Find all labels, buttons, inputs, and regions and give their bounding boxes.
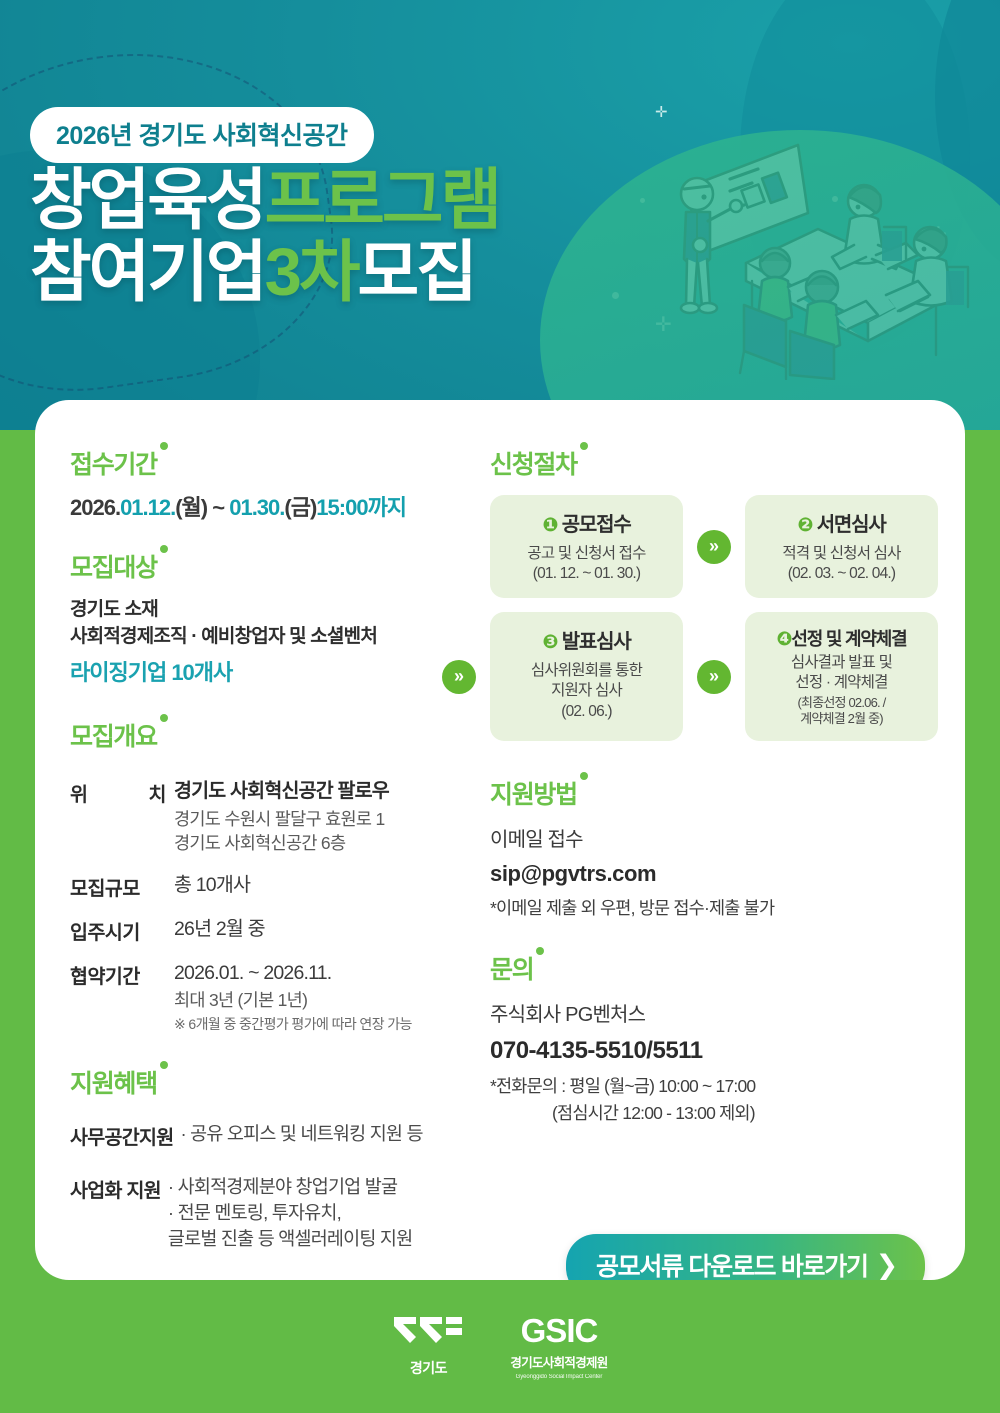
gyeonggi-mark-icon [392,1315,464,1351]
process-flow: ❶ 공모접수 공고 및 신청서 접수 (01. 12. ~ 01. 30.) »… [490,495,938,741]
process-step-4-desc-small: (최종선정 02.06. / 계약체결 2월 중) [753,695,930,728]
section-heading-application-period: 접수기간 [70,445,157,481]
section-heading-benefits: 지원혜택 [70,1064,157,1100]
overview-row-scale: 모집규모 총 10개사 [70,872,490,901]
overview-key-location-b: 치 [149,778,166,855]
title-line1-accent: 프로그램 [265,163,500,238]
apply-method: 이메일 접수 [490,826,945,854]
process-step-1-desc: 공고 및 신청서 접수 (01. 12. ~ 01. 30.) [498,544,675,584]
meeting-presentation-illustration [640,135,980,380]
location-address-1: 경기도 수원시 팔달구 효원로 1 [174,807,389,831]
hero-banner: ✛ ✛ ✛ 2026년 경기도 사회혁신공간 창업육성프로그램 참여기업3차모집 [0,0,1000,430]
location-name: 경기도 사회혁신공간 팔로우 [174,778,389,805]
overview-key-agreement: 협약기간 [70,960,174,1034]
process-step-1-label: 공모접수 [562,514,631,536]
process-step-2-number: ❷ [797,515,812,536]
process-step-3-desc: 심사위원회를 통한 지원자 심사 (02. 06.) [498,661,675,721]
hero-title: 창업육성프로그램 참여기업3차모집 [30,168,499,307]
process-step-3: ❸ 발표심사 심사위원회를 통한 지원자 심사 (02. 06.) [490,612,683,741]
hero-badge: 2026년 경기도 사회혁신공간 [30,107,374,163]
period-prefix: 2026. [70,495,120,520]
sparkle-icon: ✛ [930,225,947,245]
gsic-logo-english: Gyeonggido Social Impact Center [510,1374,607,1380]
process-arrow-2-icon: » [442,660,476,694]
inquiry-company: 주식회사 PG벤처스 [490,1001,945,1029]
overview-key-scale: 모집규모 [70,872,174,901]
benefit-key-commercialization: 사업화 지원 [70,1174,161,1252]
process-step-1: ❶ 공모접수 공고 및 신청서 접수 (01. 12. ~ 01. 30.) [490,495,683,598]
period-tilde: ~ [207,495,229,520]
content-card: 접수기간 2026.01.12.(월) ~ 01.30.(금)15:00까지 모… [35,400,965,1280]
process-step-3-label: 발표심사 [562,631,631,653]
gyeonggi-logo-label: 경기도 [392,1358,464,1378]
inquiry-hours-line1: *전화문의 : 평일 (월~금) 10:00 ~ 17:00 [490,1073,945,1098]
process-step-3-number: ❸ [542,632,557,653]
period-end-day: (금) [284,495,316,520]
decor-blob-right-2 [740,0,970,350]
overview-value-agreement: 2026.01. ~ 2026.11. 최대 3년 (기본 1년) ※ 6개월 … [174,960,412,1034]
target-line1: 경기도 소재 [70,597,490,624]
logo-gyeonggi-province: 경기도 [392,1315,464,1378]
agreement-max-term: 최대 3년 (기본 1년) [174,988,412,1012]
location-address-2: 경기도 사회혁신공간 6층 [174,831,389,855]
download-cta-label: 공모서류 다운로드 바로가기 [596,1247,868,1283]
period-start-day: (월) [175,495,207,520]
process-arrow-3-icon: » [697,660,731,694]
overview-row-agreement: 협약기간 2026.01. ~ 2026.11. 최대 3년 (기본 1년) ※… [70,960,490,1034]
decor-dot [640,198,645,203]
chevron-right-icon: ❯ [876,1250,897,1281]
benefit-value-office: · 공유 오피스 및 네트워킹 지원 등 [180,1121,422,1150]
process-step-2: ❷ 서면심사 적격 및 신청서 심사 (02. 03. ~ 02. 04.) [745,495,938,598]
overview-value-movein: 26년 2월 중 [174,916,265,945]
gyeonggi-symbol-icon [392,1315,464,1345]
benefit-value-commercialization: · 사회적경제분야 창업기업 발굴 · 전문 멘토링, 투자유치, 글로벌 진출… [168,1174,412,1252]
overview-key-location: 위 치 [70,778,174,855]
process-step-1-number: ❶ [542,515,557,536]
sparkle-icon: ✛ [655,105,668,120]
target-highlight: 라이징기업 10개사 [70,655,490,687]
section-process: 신청절차 ❶ 공모접수 공고 및 신청서 접수 (01. 12. ~ 01. 3… [490,445,945,741]
process-step-2-desc: 적격 및 신청서 심사 (02. 03. ~ 02. 04.) [753,544,930,584]
benefit-item-office: 사무공간지원 · 공유 오피스 및 네트워킹 지원 등 [70,1121,490,1150]
process-step-4-title: ❹선정 및 계약체결 [753,625,930,651]
agreement-period: 2026.01. ~ 2026.11. [174,960,412,987]
section-heading-overview: 모집개요 [70,717,157,753]
left-column: 접수기간 2026.01.12.(월) ~ 01.30.(금)15:00까지 모… [70,445,490,1252]
overview-value-scale: 총 10개사 [174,872,250,901]
benefit-key-office: 사무공간지원 [70,1121,173,1150]
process-step-2-title: ❷ 서면심사 [753,508,930,537]
overview-row-location: 위 치 경기도 사회혁신공간 팔로우 경기도 수원시 팔달구 효원로 1 경기도… [70,778,490,855]
right-column: 신청절차 ❶ 공모접수 공고 및 신청서 접수 (01. 12. ~ 01. 3… [490,445,945,1125]
period-deadline: 15:00까지 [316,495,406,520]
section-heading-process: 신청절차 [490,445,577,481]
decor-dot [612,292,619,299]
section-inquiry: 문의 주식회사 PG벤처스 070-4135-5510/5511 *전화문의 :… [490,950,945,1124]
overview-value-location: 경기도 사회혁신공간 팔로우 경기도 수원시 팔달구 효원로 1 경기도 사회혁… [174,778,389,855]
title-line2-suffix: 모집 [357,235,474,310]
process-row-1: ❶ 공모접수 공고 및 신청서 접수 (01. 12. ~ 01. 30.) »… [490,495,938,598]
section-heading-inquiry: 문의 [490,950,533,986]
section-how-to-apply: 지원방법 이메일 접수 sip@pgvtrs.com *이메일 제출 외 우편,… [490,775,945,920]
process-step-2-label: 서면심사 [817,514,886,536]
apply-email[interactable]: sip@pgvtrs.com [490,861,945,887]
section-benefits: 지원혜택 사무공간지원 · 공유 오피스 및 네트워킹 지원 등 사업화 지원 … [70,1064,490,1252]
overview-row-movein: 입주시기 26년 2월 중 [70,916,490,945]
benefit-item-commercialization: 사업화 지원 · 사회적경제분야 창업기업 발굴 · 전문 멘토링, 투자유치,… [70,1174,490,1252]
process-row-2: » ❸ 발표심사 심사위원회를 통한 지원자 심사 (02. 06.) » [442,612,938,741]
process-step-4-desc: 심사결과 발표 및 선정 · 계약체결 [753,653,930,693]
target-line2: 사회적경제조직 · 예비창업자 및 소셜벤처 [70,624,490,651]
gsic-logo-label: 경기도사회적경제원 [510,1352,607,1371]
period-start-date: 01.12. [120,495,175,520]
logo-gsic: GSIC 경기도사회적경제원 Gyeonggido Social Impact … [510,1314,607,1380]
process-step-4-label: 선정 및 계약체결 [791,629,906,649]
process-step-1-title: ❶ 공모접수 [498,508,675,537]
apply-note: *이메일 제출 외 우편, 방문 접수·제출 불가 [490,895,945,920]
section-overview: 모집개요 위 치 경기도 사회혁신공간 팔로우 경기도 수원시 팔달구 효원로 … [70,717,490,1035]
application-period-value: 2026.01.12.(월) ~ 01.30.(금)15:00까지 [70,490,490,522]
title-line2-accent: 3차 [265,235,358,310]
section-heading-how-to-apply: 지원방법 [490,775,577,811]
title-line2-primary: 참여기업 [30,235,265,310]
gsic-mark-icon: GSIC [510,1314,607,1347]
decor-dot [832,196,838,202]
inquiry-hours-line2: (점심시간 12:00 - 13:00 제외) [490,1100,945,1125]
process-step-4-number: ❹ [776,629,791,650]
process-step-4: ❹선정 및 계약체결 심사결과 발표 및 선정 · 계약체결 (최종선정 02.… [745,612,938,741]
process-arrow-1-icon: » [697,530,731,564]
footer: 경기도 GSIC 경기도사회적경제원 Gyeonggido Social Imp… [0,1280,1000,1413]
section-heading-target: 모집대상 [70,548,157,584]
sparkle-icon: ✛ [655,315,672,335]
section-application-period: 접수기간 2026.01.12.(월) ~ 01.30.(금)15:00까지 [70,445,490,522]
inquiry-phone[interactable]: 070-4135-5510/5511 [490,1037,945,1065]
title-line1-primary: 창업육성 [30,163,265,238]
agreement-note: ※ 6개월 중 중간평가 평가에 따라 연장 가능 [174,1015,412,1034]
process-step-3-title: ❸ 발표심사 [498,625,675,654]
section-target: 모집대상 경기도 소재 사회적경제조직 · 예비창업자 및 소셜벤처 라이징기업… [70,548,490,687]
period-end-date: 01.30. [229,495,284,520]
overview-key-movein: 입주시기 [70,916,174,945]
overview-key-location-a: 위 [70,778,87,855]
